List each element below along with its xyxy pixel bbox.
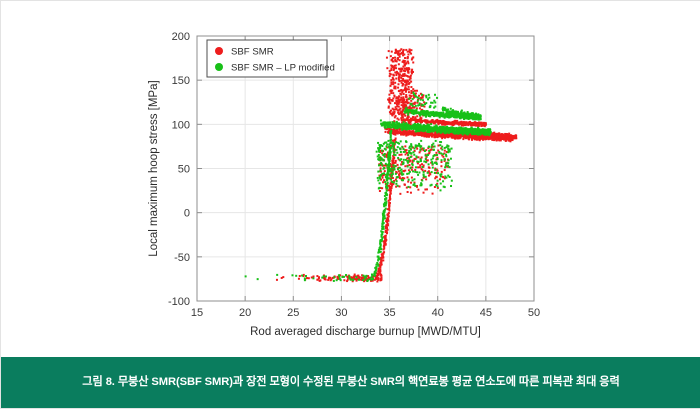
- legend-marker: [215, 63, 223, 71]
- legend-marker: [215, 47, 223, 55]
- x-axis-title: Rod averaged discharge burnup [MWD/MTU]: [250, 326, 481, 338]
- scatter-chart: 1520253035404550-100-50050100150200 SBF …: [1, 1, 700, 359]
- y-tick-label: -50: [174, 252, 190, 264]
- x-tick-label: 35: [383, 307, 395, 319]
- legend-label: SBF SMR: [231, 47, 274, 58]
- x-tick-label: 15: [191, 307, 203, 319]
- y-tick-label: 100: [172, 119, 190, 131]
- x-tick-label: 30: [335, 307, 347, 319]
- x-tick-label: 25: [287, 307, 299, 319]
- y-tick-label: 200: [172, 31, 190, 43]
- chart-panel: 1520253035404550-100-50050100150200 SBF …: [1, 1, 700, 359]
- y-axis-title: Local maximum hoop stress [MPa]: [148, 80, 160, 256]
- y-tick-label: 50: [178, 164, 190, 176]
- y-tick-label: 0: [184, 208, 190, 220]
- x-tick-label: 40: [432, 307, 444, 319]
- x-tick-label: 20: [239, 307, 251, 319]
- y-tick-label: -100: [168, 296, 190, 308]
- data-points: [245, 48, 518, 282]
- figure-caption: 그림 8. 무붕산 SMR(SBF SMR)과 장전 모형이 수정된 무붕산 S…: [82, 376, 619, 389]
- x-tick-label: 50: [528, 307, 540, 319]
- legend-label: SBF SMR – LP modified: [231, 63, 335, 74]
- chart-legend[interactable]: SBF SMRSBF SMR – LP modified: [207, 40, 335, 77]
- caption-banner: 그림 8. 무붕산 SMR(SBF SMR)과 장전 모형이 수정된 무붕산 S…: [1, 357, 700, 408]
- x-tick-label: 45: [480, 307, 492, 319]
- figure-container: 1520253035404550-100-50050100150200 SBF …: [0, 0, 700, 409]
- y-tick-label: 150: [172, 75, 190, 87]
